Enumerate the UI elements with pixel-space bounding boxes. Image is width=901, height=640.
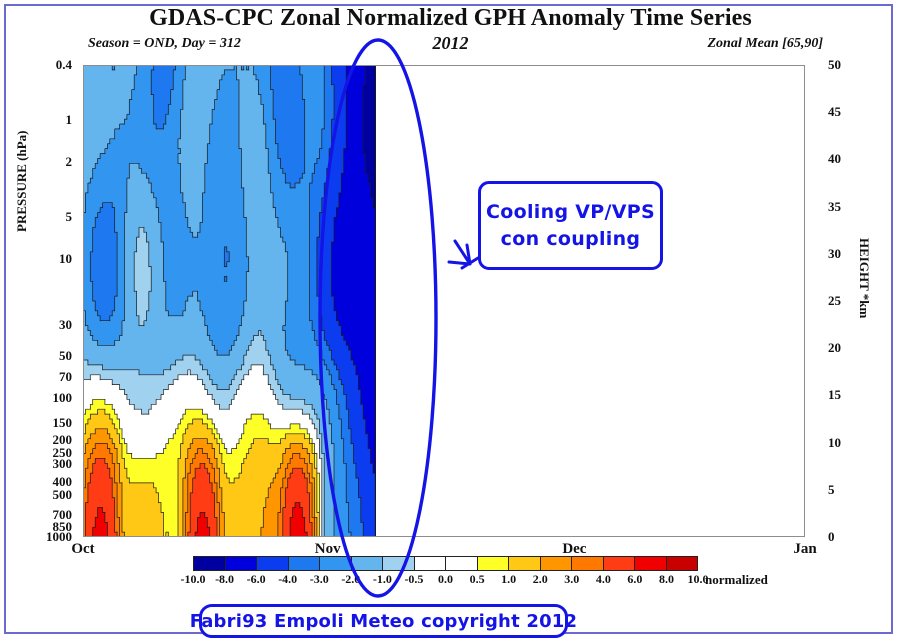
- colorbar-tick-label: -2.0: [341, 572, 360, 587]
- colorbar-swatch: [667, 557, 698, 570]
- subtitle-zonal-mean: Zonal Mean [65,90]: [708, 36, 824, 52]
- colorbar-tick-label: -3.0: [310, 572, 329, 587]
- colorbar-tick-label: -6.0: [247, 572, 266, 587]
- colorbar-tick-label: -4.0: [278, 572, 297, 587]
- annotation-line-1: Cooling VP/VPS: [486, 199, 655, 225]
- height-tick-label: 50: [828, 57, 841, 73]
- y-tick-label: 1: [66, 112, 79, 128]
- contour-plot-area: [83, 65, 805, 537]
- colorbar-swatch: [478, 557, 510, 570]
- height-tick-label: 35: [828, 199, 841, 215]
- y-tick-label: 150: [53, 415, 79, 431]
- height-tick-label: 5: [828, 482, 835, 498]
- colorbar-swatch: [604, 557, 636, 570]
- y-tick-label: 30: [59, 317, 78, 333]
- colorbar-swatch: [383, 557, 415, 570]
- annotation-callout: Cooling VP/VPS con coupling: [478, 181, 663, 270]
- colorbar-swatch: [289, 557, 321, 570]
- colorbar-swatch: [415, 557, 447, 570]
- y-axis-ticks-left: 0.41251030507010015020025030040050070085…: [0, 65, 78, 537]
- height-tick-label: 45: [828, 104, 841, 120]
- x-tick-label: Jan: [793, 541, 816, 558]
- annotation-line-2: con coupling: [501, 226, 641, 252]
- colorbar-tick-label: -0.5: [404, 572, 423, 587]
- copyright-badge: Fabri93 Empoli Meteo copyright 2012: [199, 604, 568, 638]
- height-tick-label: 40: [828, 151, 841, 167]
- colorbar-swatch: [352, 557, 384, 570]
- colorbar: [193, 556, 698, 571]
- height-tick-label: 15: [828, 387, 841, 403]
- colorbar-swatch: [226, 557, 258, 570]
- colorbar-swatch: [257, 557, 289, 570]
- height-tick-label: 25: [828, 293, 841, 309]
- height-tick-label: 20: [828, 340, 841, 356]
- colorbar-tick-label: 4.0: [596, 572, 611, 587]
- colorbar-swatch: [541, 557, 573, 570]
- y-tick-label: 2: [66, 154, 79, 170]
- colorbar-tick-label: 6.0: [627, 572, 642, 587]
- height-tick-label: 10: [828, 435, 841, 451]
- copyright-text: Fabri93 Empoli Meteo copyright 2012: [190, 611, 577, 632]
- height-tick-label: 30: [828, 246, 841, 262]
- y-tick-label: 10: [59, 251, 78, 267]
- colorbar-tick-label: 0.5: [470, 572, 485, 587]
- colorbar-tick-label: -8.0: [215, 572, 234, 587]
- y-tick-label: 0.4: [56, 57, 78, 73]
- colorbar-swatch: [572, 557, 604, 570]
- y-tick-label: 50: [59, 348, 78, 364]
- y-tick-label: 300: [53, 456, 79, 472]
- colorbar-swatch: [509, 557, 541, 570]
- colorbar-tick-labels: -10.0-8.0-6.0-4.0-3.0-2.0-1.0-0.50.00.51…: [193, 572, 698, 588]
- colorbar-swatch: [194, 557, 226, 570]
- colorbar-tick-label: 2.0: [533, 572, 548, 587]
- colorbar-tick-label: 0.0: [438, 572, 453, 587]
- x-tick-label: Oct: [71, 541, 94, 558]
- colorbar-unit-label: normalized: [705, 572, 768, 588]
- colorbar-tick-label: -1.0: [373, 572, 392, 587]
- colorbar-swatch: [635, 557, 667, 570]
- colorbar-tick-label: 3.0: [564, 572, 579, 587]
- colorbar-tick-label: -10.0: [181, 572, 206, 587]
- y-tick-label: 5: [66, 209, 79, 225]
- y-tick-label: 500: [53, 487, 79, 503]
- colorbar-swatch: [320, 557, 352, 570]
- colorbar-tick-label: 8.0: [659, 572, 674, 587]
- y-tick-label: 100: [53, 390, 79, 406]
- y-tick-label: 70: [59, 369, 78, 385]
- chart-title: GDAS-CPC Zonal Normalized GPH Anomaly Ti…: [0, 5, 901, 32]
- colorbar-swatch: [446, 557, 478, 570]
- y-axis-ticks-right: 05101520253035404550: [828, 65, 888, 537]
- colorbar-tick-label: 1.0: [501, 572, 516, 587]
- contour-field: [83, 65, 805, 537]
